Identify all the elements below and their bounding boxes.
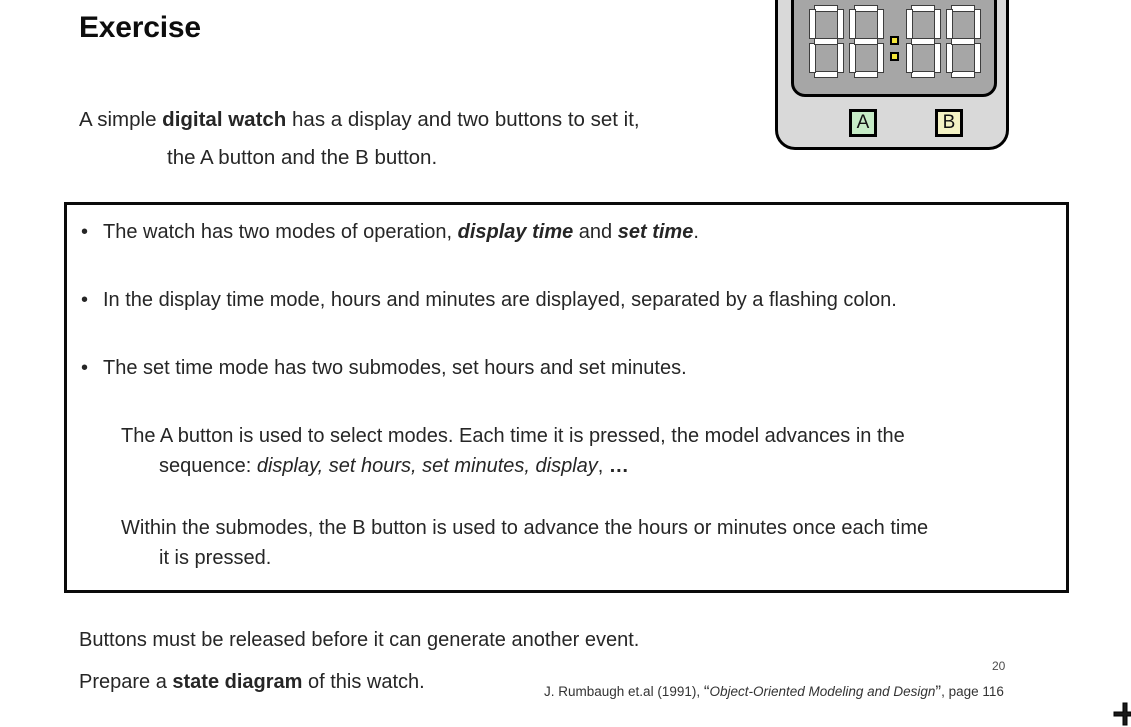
- bullet-marker-icon: •: [81, 353, 103, 383]
- footer-task-prepare-state-diagram: Prepare a state diagram of this watch.: [79, 671, 425, 694]
- segment-e-icon: [946, 43, 953, 73]
- seven-segment-digit-3: [905, 5, 941, 79]
- bullet-text-1: The watch has two modes of operation, di…: [103, 217, 1044, 247]
- footer-line2-post: of this watch.: [302, 671, 424, 693]
- segment-f-icon: [849, 9, 856, 39]
- segment-b-icon: [974, 9, 981, 39]
- segment-g-icon: [814, 38, 838, 45]
- segment-a-icon: [814, 5, 838, 12]
- source-citation: J. Rumbaugh et.al (1991), “Object-Orient…: [544, 682, 1004, 702]
- seven-segment-digit-2: [848, 5, 884, 79]
- segment-d-icon: [911, 71, 935, 78]
- slide-page-number: 20: [992, 659, 1005, 673]
- segment-c-icon: [934, 43, 941, 73]
- paragraph-a-button: The A button is used to select modes. Ea…: [81, 421, 1044, 481]
- watch-button-a[interactable]: A: [849, 109, 877, 137]
- segment-a-icon: [951, 5, 975, 12]
- watch-digits-hours: [806, 5, 886, 79]
- bullet-1-em-set-time: set time: [618, 221, 694, 243]
- bullet-marker-icon: •: [81, 217, 103, 247]
- bullet-item-2: • In the display time mode, hours and mi…: [81, 285, 1044, 315]
- segment-f-icon: [809, 9, 816, 39]
- colon-dot-lower: [890, 52, 899, 61]
- paragraph-a-line1: The A button is used to select modes. Ea…: [121, 425, 905, 447]
- paragraph-a-line2-pre: sequence:: [159, 455, 257, 477]
- flashing-colon-icon: [890, 5, 899, 79]
- watch-display-screen: [791, 0, 997, 97]
- bullet-1-post: .: [693, 221, 699, 243]
- intro-line2: the A button and the B button.: [79, 139, 779, 177]
- segment-b-icon: [837, 9, 844, 39]
- segment-a-icon: [854, 5, 878, 12]
- watch-button-row: A B: [791, 109, 997, 141]
- footer-term-state-diagram: state diagram: [172, 671, 302, 693]
- segment-b-icon: [934, 9, 941, 39]
- intro-term-digital-watch: digital watch: [162, 108, 286, 131]
- segment-f-icon: [946, 9, 953, 39]
- segment-g-icon: [911, 38, 935, 45]
- footer-note-buttons-released: Buttons must be released before it can g…: [79, 629, 639, 652]
- segment-c-icon: [974, 43, 981, 73]
- bullet-1-em-display-time: display time: [458, 221, 574, 243]
- segment-a-icon: [911, 5, 935, 12]
- citation-author-year: J. Rumbaugh et.al (1991),: [544, 684, 704, 699]
- seven-segment-digit-4: [945, 5, 981, 79]
- bullet-1-pre: The watch has two modes of operation,: [103, 221, 458, 243]
- ellipsis-icon: …: [609, 455, 631, 477]
- citation-page: , page 116: [941, 684, 1004, 699]
- segment-g-icon: [951, 38, 975, 45]
- paragraph-a-line2: sequence: display, set hours, set minute…: [121, 451, 1044, 481]
- paragraph-b-button: Within the submodes, the B button is use…: [81, 513, 1044, 573]
- segment-f-icon: [906, 9, 913, 39]
- segment-e-icon: [809, 43, 816, 73]
- digital-watch-graphic: A B: [775, 0, 1009, 150]
- page-title: Exercise: [79, 11, 201, 45]
- paragraph-b-line2: it is pressed.: [121, 543, 1044, 573]
- watch-digits-minutes: [903, 5, 983, 79]
- segment-d-icon: [951, 71, 975, 78]
- watch-button-b[interactable]: B: [935, 109, 963, 137]
- citation-book-title: Object-Oriented Modeling and Design: [710, 684, 936, 699]
- segment-d-icon: [814, 71, 838, 78]
- segment-c-icon: [877, 43, 884, 73]
- bullet-text-2: In the display time mode, hours and minu…: [103, 285, 1044, 315]
- intro-line1-pre: A simple: [79, 108, 162, 131]
- mouse-cursor-icon: [1112, 700, 1131, 727]
- bullet-text-3: The set time mode has two submodes, set …: [103, 353, 1044, 383]
- bullet-marker-icon: •: [81, 285, 103, 315]
- segment-e-icon: [849, 43, 856, 73]
- footer-line2-pre: Prepare a: [79, 671, 172, 693]
- seven-segment-digit-1: [808, 5, 844, 79]
- bullet-item-1: • The watch has two modes of operation, …: [81, 217, 1044, 247]
- segment-g-icon: [854, 38, 878, 45]
- segment-d-icon: [854, 71, 878, 78]
- intro-paragraph: A simple digital watch has a display and…: [79, 101, 779, 177]
- intro-line1-post: has a display and two buttons to set it,: [286, 108, 639, 131]
- paragraph-a-line2-post: ,: [598, 455, 609, 477]
- segment-c-icon: [837, 43, 844, 73]
- segment-e-icon: [906, 43, 913, 73]
- paragraph-a-sequence: display, set hours, set minutes, display: [257, 455, 598, 477]
- bullet-1-mid: and: [573, 221, 617, 243]
- bullet-item-3: • The set time mode has two submodes, se…: [81, 353, 1044, 383]
- paragraph-b-line1: Within the submodes, the B button is use…: [121, 517, 928, 539]
- colon-dot-upper: [890, 36, 899, 45]
- requirements-box: • The watch has two modes of operation, …: [64, 202, 1069, 593]
- segment-b-icon: [877, 9, 884, 39]
